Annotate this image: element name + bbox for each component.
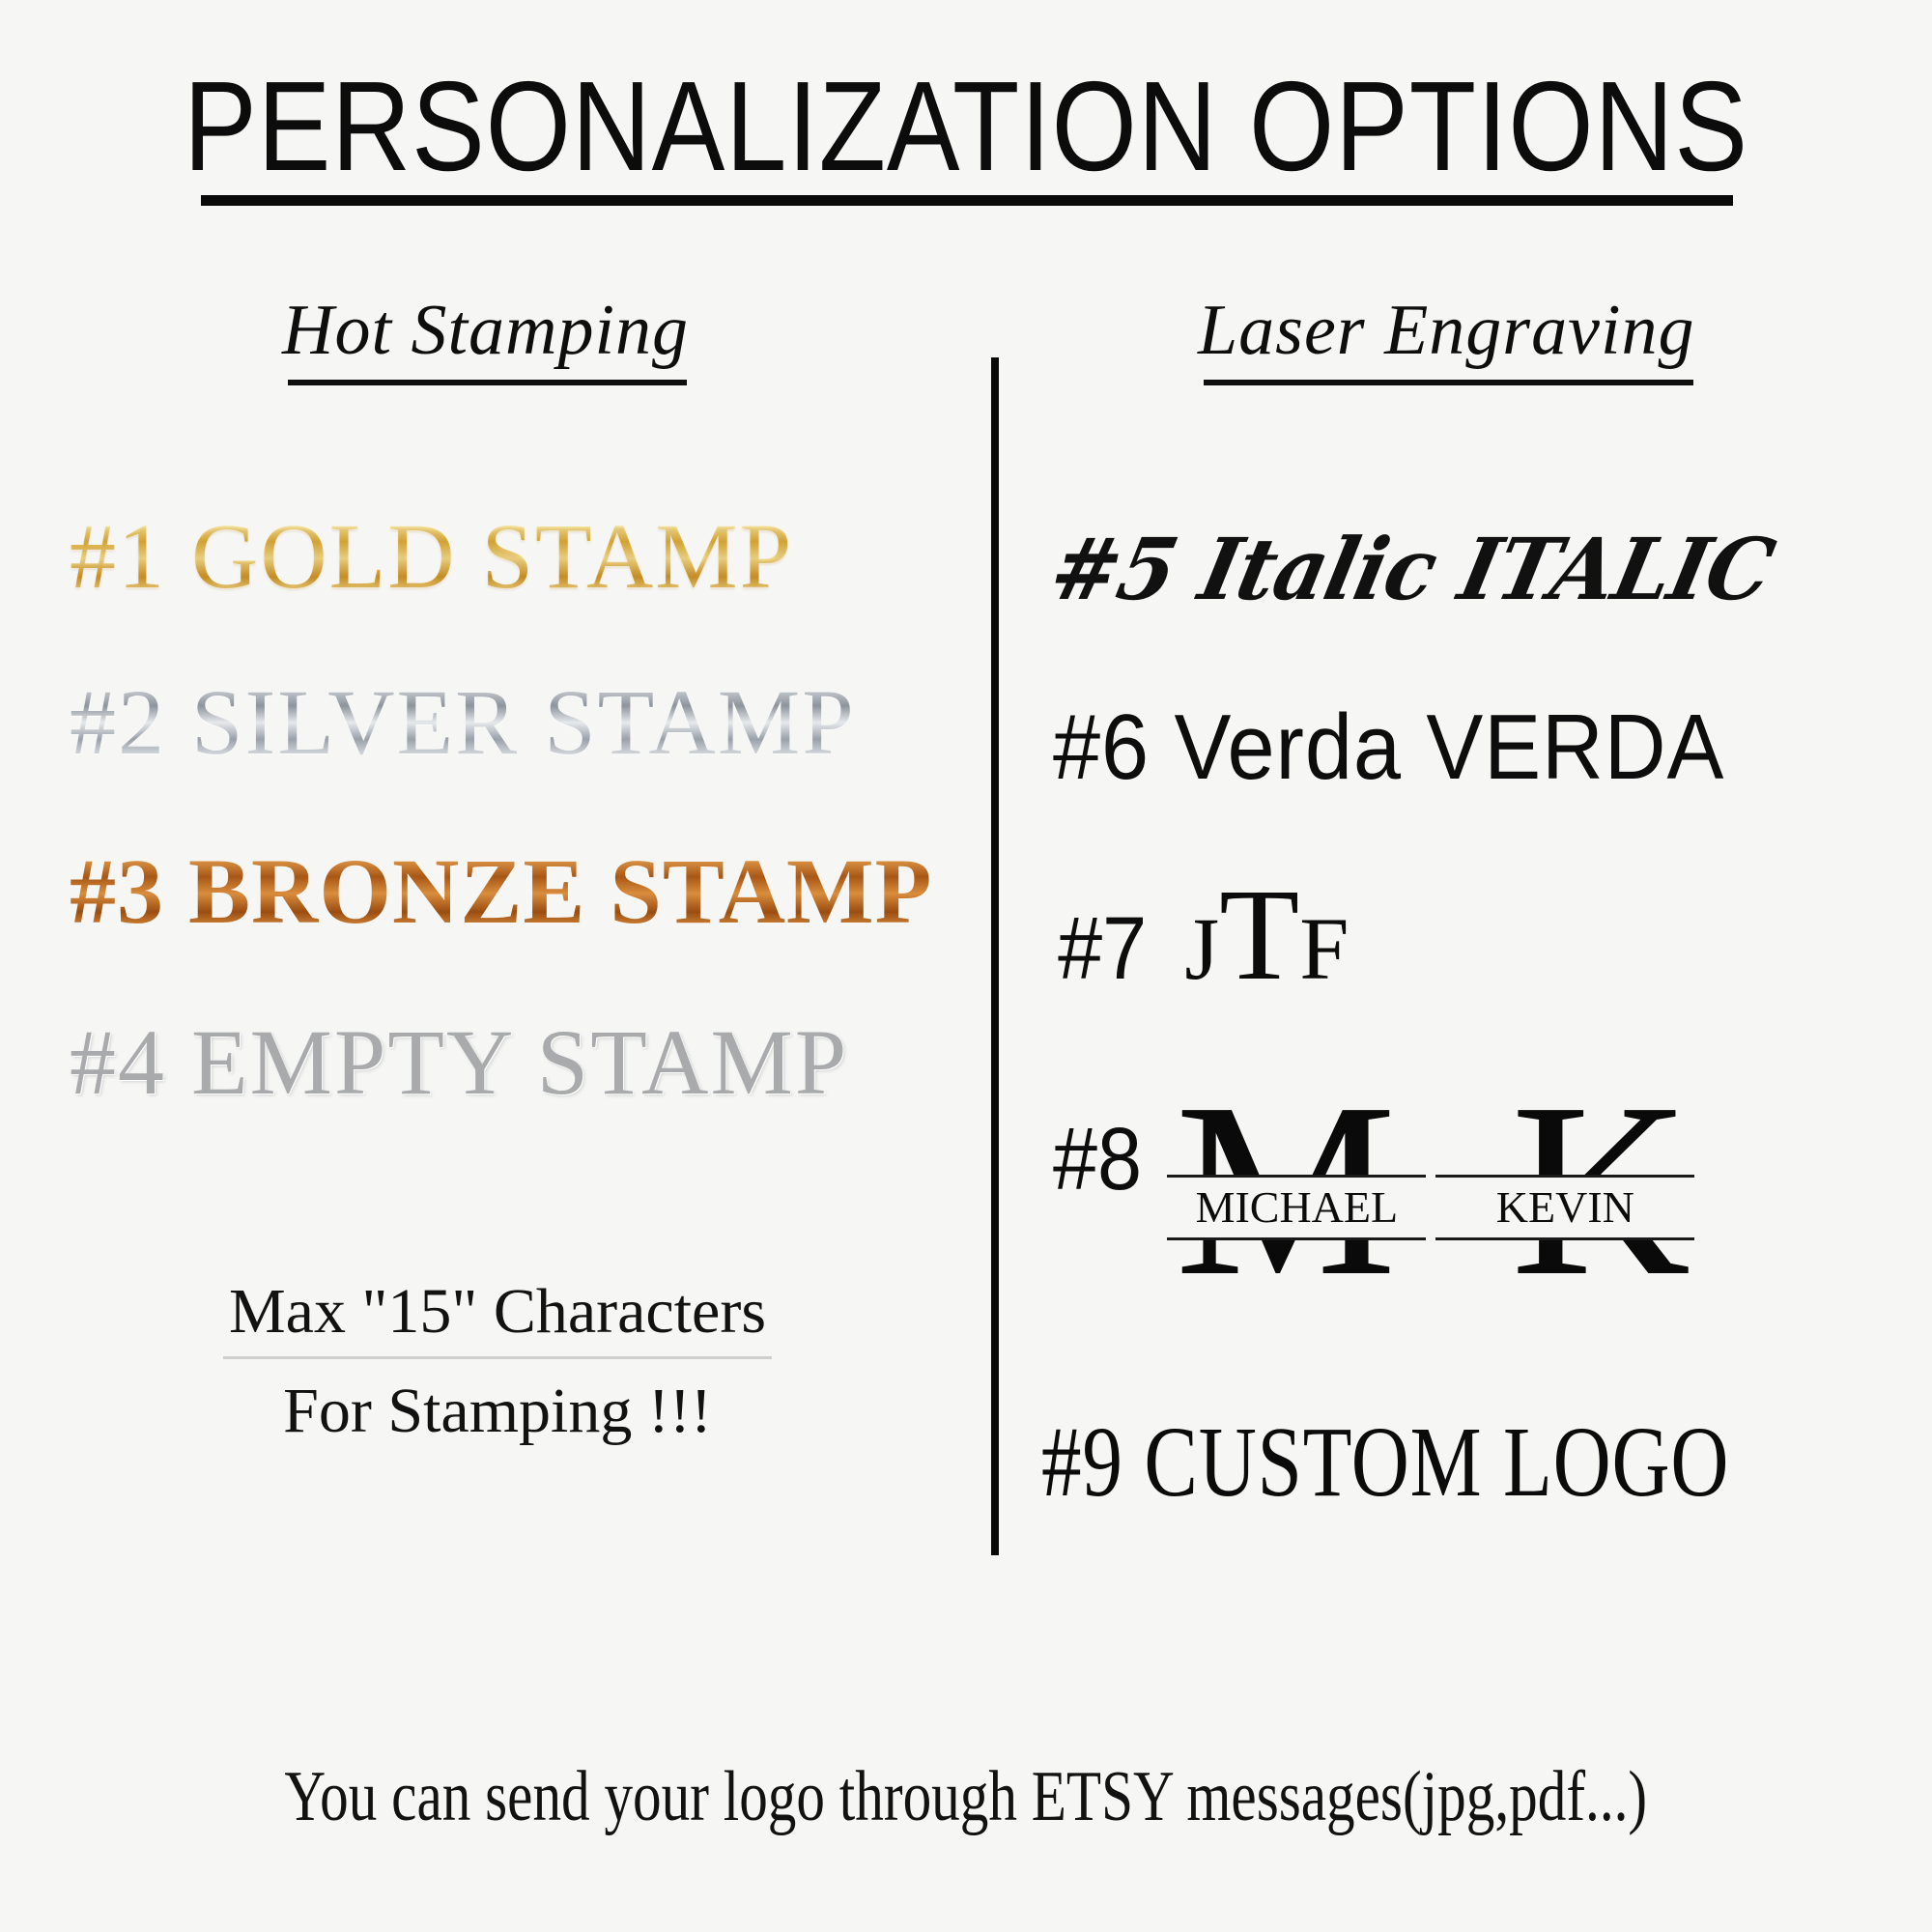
laser-engraving-heading-text: Laser Engraving: [1198, 291, 1695, 370]
laser-engraving-heading-underline: [1204, 380, 1693, 385]
personalization-options-poster: PERSONALIZATION OPTIONS Hot Stamping #1 …: [0, 0, 1932, 1932]
monogram-letter-right: F: [1299, 904, 1349, 993]
page-title-container: PERSONALIZATION OPTIONS: [0, 60, 1932, 194]
option-italic-script[interactable]: #5 Italic ITALIC: [1044, 526, 1780, 611]
hot-stamping-heading-underline: [288, 380, 687, 385]
mk-monogram-block: M K MICHAEL KEVIN: [1175, 1082, 1687, 1304]
option-custom-logo[interactable]: #9 CUSTOM LOGO: [1041, 1412, 1729, 1513]
monogram-letter-center: T: [1219, 869, 1299, 1001]
option-verda-font[interactable]: #6 Verda VERDA: [1053, 701, 1724, 794]
option-mk-split-monogram[interactable]: #8 M K MICHAEL KEVIN: [1053, 1082, 1687, 1304]
mk-name-band: MICHAEL KEVIN: [1167, 1175, 1694, 1240]
hot-stamping-heading: Hot Stamping: [282, 290, 689, 372]
page-title-underline: [201, 195, 1733, 206]
mk-name-left: MICHAEL: [1167, 1175, 1426, 1240]
option-jtf-monogram[interactable]: #7 J T F: [1053, 869, 1349, 1001]
stamping-character-limit-note: Max "15" Characters For Stamping !!!: [0, 1275, 995, 1448]
mk-name-right: KEVIN: [1435, 1175, 1694, 1240]
footer-note-text: You can send your logo through ETSY mess…: [285, 1756, 1648, 1838]
laser-engraving-heading: Laser Engraving: [1198, 290, 1695, 372]
footer-note: You can send your logo through ETSY mess…: [0, 1756, 1932, 1838]
character-limit-line-2: For Stamping !!!: [0, 1375, 995, 1448]
hot-stamping-heading-text: Hot Stamping: [282, 291, 689, 370]
page-title: PERSONALIZATION OPTIONS: [135, 60, 1797, 194]
option-bronze-stamp[interactable]: #3 BRONZE STAMP: [70, 845, 932, 938]
option-empty-stamp[interactable]: #4 EMPTY STAMP: [70, 1016, 848, 1109]
option-gold-stamp[interactable]: #1 GOLD STAMP: [70, 510, 793, 603]
character-limit-line-1: Max "15" Characters: [223, 1275, 772, 1359]
option-mk-number: #8: [1053, 1115, 1142, 1204]
option-jtf-number: #7: [1058, 904, 1147, 993]
option-silver-stamp[interactable]: #2 SILVER STAMP: [70, 676, 856, 769]
monogram-letter-left: J: [1184, 904, 1219, 993]
